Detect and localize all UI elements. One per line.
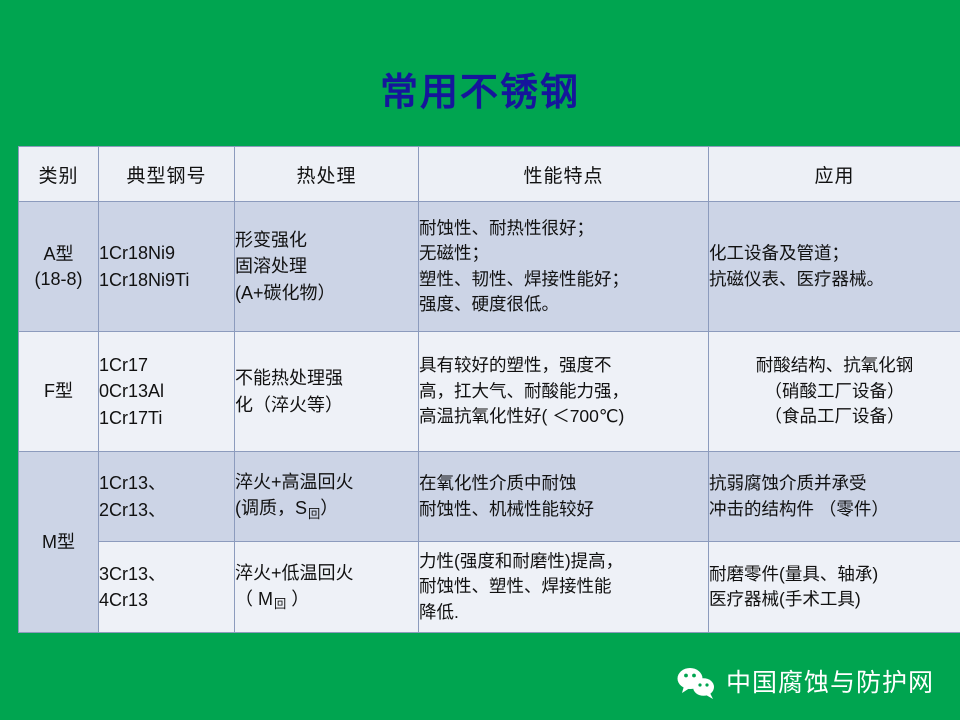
grade-line: 4Cr13 xyxy=(99,587,234,613)
grade-line: 2Cr13、 xyxy=(99,497,234,523)
property-line: 具有较好的塑性，强度不 xyxy=(419,353,708,378)
property-line: 无磁性； xyxy=(419,241,708,266)
steel-table: 类别 典型钢号 热处理 性能特点 应用 A型 (18-8) 1Cr18Ni9 xyxy=(18,146,960,633)
heat-line: (A+碳化物） xyxy=(235,280,418,306)
wechat-icon xyxy=(676,666,716,700)
application-line: （硝酸工厂设备） xyxy=(709,379,960,404)
heat-subscript: 回 xyxy=(273,597,286,611)
property-line: 力性(强度和耐磨性)提高， xyxy=(419,549,708,574)
cell-application-a: 化工设备及管道； 抗磁仪表、医疗器械。 xyxy=(709,202,960,332)
application-line: 抗弱腐蚀介质并承受 xyxy=(709,471,960,496)
grade-line: 0Cr13Al xyxy=(99,378,234,404)
brand-name: 中国腐蚀与防护网 xyxy=(726,671,934,696)
grade-line: 1Cr17Ti xyxy=(99,405,234,431)
cell-heat-a: 形变强化 固溶处理 (A+碳化物） xyxy=(235,202,419,332)
application-line: 冲击的结构件 （零件） xyxy=(709,497,960,522)
column-header-grade: 典型钢号 xyxy=(99,147,235,202)
application-line: 医疗器械(手术工具) xyxy=(709,587,960,612)
property-line: 耐蚀性、耐热性很好； xyxy=(419,216,708,241)
application-line: （食品工厂设备） xyxy=(709,404,960,429)
heat-line: 固溶处理 xyxy=(235,253,418,279)
table-row: A型 (18-8) 1Cr18Ni9 1Cr18Ni9Ti 形变强化 固溶处理 … xyxy=(19,202,960,332)
property-line: 塑性、韧性、焊接性能好； xyxy=(419,267,708,292)
grade-line: 1Cr18Ni9 xyxy=(99,240,234,266)
property-line: 在氧化性介质中耐蚀 xyxy=(419,471,708,496)
grade-line: 1Cr13、 xyxy=(99,470,234,496)
category-label: A型 xyxy=(43,244,73,264)
heat-suffix: ） xyxy=(320,498,338,518)
cell-application-m2: 耐磨零件(量具、轴承) 医疗器械(手术工具) xyxy=(709,542,960,633)
cell-category-f: F型 xyxy=(19,332,99,452)
cell-properties-m2: 力性(强度和耐磨性)提高， 耐蚀性、塑性、焊接性能 降低. xyxy=(419,542,709,633)
category-label: F型 xyxy=(44,381,73,401)
grade-line: 1Cr18Ni9Ti xyxy=(99,267,234,293)
category-label: M型 xyxy=(42,532,75,552)
cell-application-m1: 抗弱腐蚀介质并承受 冲击的结构件 （零件） xyxy=(709,452,960,542)
heat-suffix: ） xyxy=(286,589,309,609)
heat-line: 不能热处理强 xyxy=(235,365,418,391)
application-line: 抗磁仪表、医疗器械。 xyxy=(709,267,960,292)
cell-category-m: M型 xyxy=(19,452,99,633)
category-sublabel: (18-8) xyxy=(19,267,98,291)
heat-line: 化（淬火等） xyxy=(235,392,418,418)
table-row: 3Cr13、 4Cr13 淬火+低温回火 （ M回 ） 力性(强度和耐磨性)提高… xyxy=(19,542,960,633)
grade-line: 1Cr17 xyxy=(99,352,234,378)
heat-line: 淬火+低温回火 xyxy=(235,560,418,586)
cell-heat-f: 不能热处理强 化（淬火等） xyxy=(235,332,419,452)
cell-heat-m1: 淬火+高温回火 (调质，S回） xyxy=(235,452,419,542)
cell-grade-a: 1Cr18Ni9 1Cr18Ni9Ti xyxy=(99,202,235,332)
cell-properties-m1: 在氧化性介质中耐蚀 耐蚀性、机械性能较好 xyxy=(419,452,709,542)
column-header-category: 类别 xyxy=(19,147,99,202)
footer-watermark: 中国腐蚀与防护网 xyxy=(676,666,934,700)
heat-line-with-subscript: (调质，S回） xyxy=(235,495,418,523)
column-header-heat: 热处理 xyxy=(235,147,419,202)
heat-line: 形变强化 xyxy=(235,227,418,253)
property-line: 高温抗氧化性好( ＜700℃) xyxy=(419,404,708,429)
heat-line: 淬火+高温回火 xyxy=(235,469,418,495)
heat-prefix: （ M xyxy=(235,589,273,609)
cell-grade-m1: 1Cr13、 2Cr13、 xyxy=(99,452,235,542)
property-line: 高，扛大气、耐酸能力强， xyxy=(419,379,708,404)
property-line: 耐蚀性、塑性、焊接性能 xyxy=(419,574,708,599)
grade-line: 3Cr13、 xyxy=(99,561,234,587)
cell-grade-m2: 3Cr13、 4Cr13 xyxy=(99,542,235,633)
cell-grade-f: 1Cr17 0Cr13Al 1Cr17Ti xyxy=(99,332,235,452)
column-header-application: 应用 xyxy=(709,147,960,202)
property-line: 降低. xyxy=(419,600,708,625)
cell-heat-m2: 淬火+低温回火 （ M回 ） xyxy=(235,542,419,633)
application-line: 耐酸结构、抗氧化钢 xyxy=(709,353,960,378)
property-line: 强度、硬度很低。 xyxy=(419,292,708,317)
heat-prefix: (调质，S xyxy=(235,498,307,518)
application-line: 耐磨零件(量具、轴承) xyxy=(709,562,960,587)
heat-subscript: 回 xyxy=(307,507,320,521)
heat-line-with-subscript: （ M回 ） xyxy=(235,586,418,614)
cell-category-a: A型 (18-8) xyxy=(19,202,99,332)
table-header-row: 类别 典型钢号 热处理 性能特点 应用 xyxy=(19,147,960,202)
slide-root: 常用不锈钢 类别 典型钢号 热处理 性能特点 应用 A型 xyxy=(0,0,960,720)
cell-properties-f: 具有较好的塑性，强度不 高，扛大气、耐酸能力强， 高温抗氧化性好( ＜700℃) xyxy=(419,332,709,452)
table-row: M型 1Cr13、 2Cr13、 淬火+高温回火 (调质，S回） 在氧化性介质中… xyxy=(19,452,960,542)
page-title: 常用不锈钢 xyxy=(0,74,960,112)
steel-table-container: 类别 典型钢号 热处理 性能特点 应用 A型 (18-8) 1Cr18Ni9 xyxy=(18,146,960,631)
column-header-properties: 性能特点 xyxy=(419,147,709,202)
cell-properties-a: 耐蚀性、耐热性很好； 无磁性； 塑性、韧性、焊接性能好； 强度、硬度很低。 xyxy=(419,202,709,332)
property-line: 耐蚀性、机械性能较好 xyxy=(419,497,708,522)
cell-application-f: 耐酸结构、抗氧化钢 （硝酸工厂设备） （食品工厂设备） xyxy=(709,332,960,452)
application-line: 化工设备及管道； xyxy=(709,241,960,266)
table-row: F型 1Cr17 0Cr13Al 1Cr17Ti 不能热处理强 化（淬火等） 具… xyxy=(19,332,960,452)
